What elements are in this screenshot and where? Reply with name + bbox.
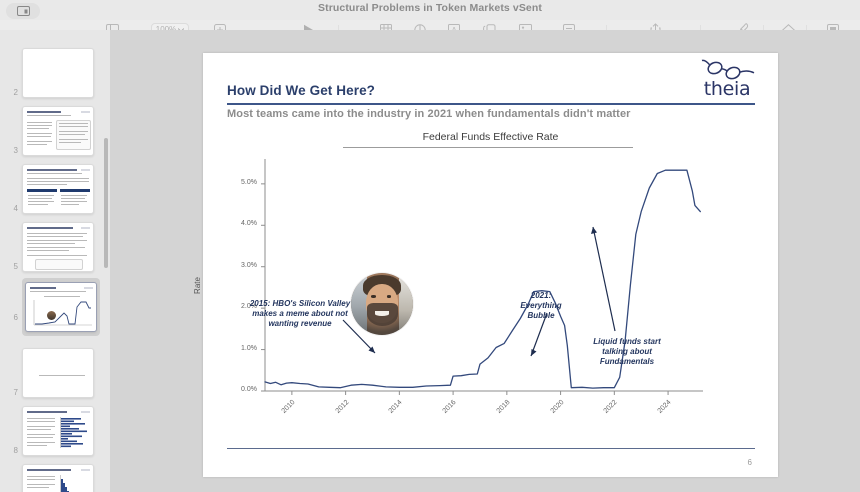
- sidebar-slide-5[interactable]: 5: [0, 222, 110, 272]
- footer-divider: [227, 448, 755, 450]
- slide-heading: How Did We Get Here?: [227, 83, 375, 98]
- theia-logo: theia: [694, 56, 760, 100]
- slide-thumbnail[interactable]: [22, 106, 94, 156]
- slide-number: 4: [0, 204, 22, 214]
- slide-thumbnail[interactable]: [22, 348, 94, 398]
- slide-page-number: 6: [748, 458, 752, 467]
- annotation-arrow-liquid-funds: [591, 227, 615, 331]
- slide-thumbnail-selected-frame: [22, 278, 100, 336]
- slide-subheading: Most teams came into the industry in 202…: [227, 108, 631, 120]
- annotation-liquid-funds: Liquid funds start talking about Fundame…: [587, 337, 667, 367]
- slide-canvas[interactable]: theia How Did We Get Here? Most teams ca…: [110, 30, 860, 492]
- sidebar-slide-9[interactable]: 9: [0, 464, 110, 492]
- chart-svg: [203, 153, 778, 413]
- sidebar-slide-3[interactable]: 3: [0, 106, 110, 156]
- current-slide[interactable]: theia How Did We Get Here? Most teams ca…: [203, 53, 778, 477]
- slide-thumbnail[interactable]: [22, 48, 94, 98]
- slide-thumbnail[interactable]: [22, 464, 94, 492]
- thumbnail-decay-chart: [59, 475, 91, 492]
- keynote-window: Structural Problems in Token Markets vSe…: [0, 0, 860, 492]
- fed-funds-chart[interactable]: Federal Funds Effective Rate Rate 0.0%1.…: [203, 131, 778, 451]
- logo-wordmark: theia: [694, 78, 760, 100]
- slide-number: 2: [0, 88, 22, 98]
- chart-title: Federal Funds Effective Rate: [203, 131, 778, 143]
- slide-navigator-sidebar[interactable]: 2 3 4: [0, 30, 110, 492]
- slide-thumbnail[interactable]: [22, 164, 94, 214]
- window-title: Structural Problems in Token Markets vSe…: [0, 2, 860, 14]
- slide-thumbnail[interactable]: [25, 282, 97, 332]
- sidebar-slide-7[interactable]: 7: [0, 348, 110, 398]
- sidebar-slide-6[interactable]: 6: [0, 278, 110, 336]
- thumbnail-bar-chart: [59, 417, 91, 451]
- slide-number: 6: [0, 291, 22, 323]
- sidebar-slide-4[interactable]: 4: [0, 164, 110, 214]
- slide-number: 3: [0, 146, 22, 156]
- chart-plot-area: Rate 0.0%1.0%2.0%3.0%4.0%5.0% 2010201220…: [203, 153, 778, 413]
- slide-number: 8: [0, 446, 22, 456]
- y-axis-label: Rate: [193, 277, 202, 294]
- window-titlebar: Structural Problems in Token Markets vSe…: [0, 0, 860, 20]
- annotation-silicon-valley: 2015: HBO's Silicon Valley makes a meme …: [241, 299, 359, 329]
- slide-number: 7: [0, 388, 22, 398]
- sidebar-slide-2[interactable]: 2: [0, 48, 110, 98]
- title-divider: [227, 103, 755, 105]
- slide-thumbnail[interactable]: [22, 406, 94, 456]
- chart-title-divider: [343, 147, 633, 148]
- slide-number: 5: [0, 262, 22, 272]
- slide-thumbnail[interactable]: [22, 222, 94, 272]
- bearded-man-photo: [351, 273, 413, 335]
- annotation-everything-bubble: 2021: Everything Bubble: [511, 291, 571, 321]
- sidebar-scrollbar[interactable]: [104, 138, 108, 268]
- sidebar-slide-8[interactable]: 8: [0, 406, 110, 456]
- thumbnail-chart-line: [33, 299, 93, 327]
